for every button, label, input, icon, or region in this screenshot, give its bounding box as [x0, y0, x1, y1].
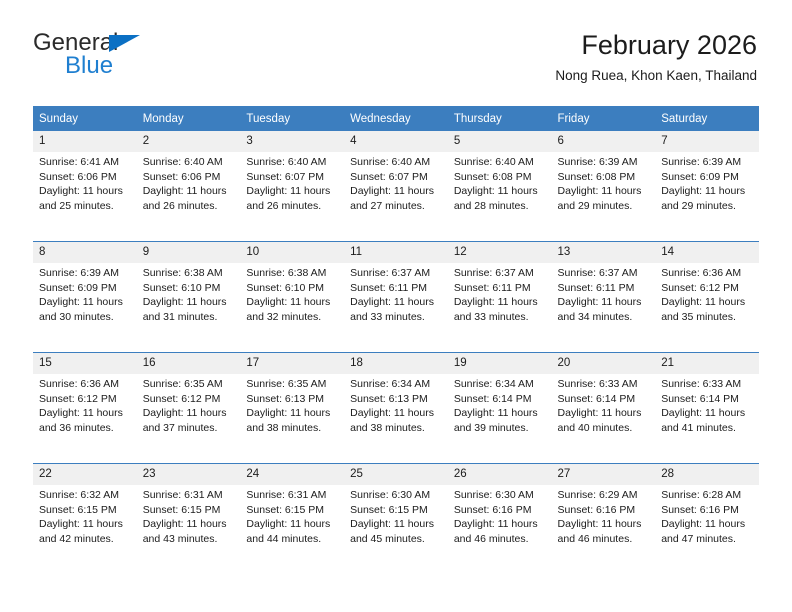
calendar-day-cell[interactable]: 2Sunrise: 6:40 AMSunset: 6:06 PMDaylight…	[137, 131, 241, 242]
daylight-text-line2: and 28 minutes.	[454, 199, 547, 214]
page-header: General Blue February 2026 Nong Ruea, Kh…	[33, 30, 757, 96]
daylight-text-line1: Daylight: 11 hours	[558, 295, 651, 310]
sunrise-text: Sunrise: 6:40 AM	[143, 155, 236, 170]
day-cell-inner: 21Sunrise: 6:33 AMSunset: 6:14 PMDayligh…	[655, 353, 759, 463]
day-cell-inner: 23Sunrise: 6:31 AMSunset: 6:15 PMDayligh…	[137, 464, 241, 574]
calendar-day-cell[interactable]: 5Sunrise: 6:40 AMSunset: 6:08 PMDaylight…	[448, 131, 552, 242]
calendar-week-row: 22Sunrise: 6:32 AMSunset: 6:15 PMDayligh…	[33, 464, 759, 575]
daylight-text-line1: Daylight: 11 hours	[661, 184, 754, 199]
sunset-text: Sunset: 6:06 PM	[143, 170, 236, 185]
day-number: 6	[552, 131, 656, 152]
daylight-text-line1: Daylight: 11 hours	[350, 517, 443, 532]
sunrise-text: Sunrise: 6:39 AM	[39, 266, 132, 281]
calendar-day-cell[interactable]: 23Sunrise: 6:31 AMSunset: 6:15 PMDayligh…	[137, 464, 241, 575]
calendar-day-cell[interactable]: 26Sunrise: 6:30 AMSunset: 6:16 PMDayligh…	[448, 464, 552, 575]
daylight-text-line2: and 45 minutes.	[350, 532, 443, 547]
calendar-day-cell[interactable]: 10Sunrise: 6:38 AMSunset: 6:10 PMDayligh…	[240, 242, 344, 353]
sunset-text: Sunset: 6:11 PM	[350, 281, 443, 296]
day-cell-inner: 22Sunrise: 6:32 AMSunset: 6:15 PMDayligh…	[33, 464, 137, 574]
calendar-day-cell[interactable]: 4Sunrise: 6:40 AMSunset: 6:07 PMDaylight…	[344, 131, 448, 242]
calendar-body: 1Sunrise: 6:41 AMSunset: 6:06 PMDaylight…	[33, 131, 759, 574]
day-cell-inner: 25Sunrise: 6:30 AMSunset: 6:15 PMDayligh…	[344, 464, 448, 574]
sunset-text: Sunset: 6:13 PM	[350, 392, 443, 407]
day-details: Sunrise: 6:36 AMSunset: 6:12 PMDaylight:…	[655, 263, 759, 324]
calendar-day-cell[interactable]: 18Sunrise: 6:34 AMSunset: 6:13 PMDayligh…	[344, 353, 448, 464]
day-cell-inner: 12Sunrise: 6:37 AMSunset: 6:11 PMDayligh…	[448, 242, 552, 352]
daylight-text-line1: Daylight: 11 hours	[661, 517, 754, 532]
sunset-text: Sunset: 6:09 PM	[661, 170, 754, 185]
day-number: 2	[137, 131, 241, 152]
calendar-day-cell[interactable]: 11Sunrise: 6:37 AMSunset: 6:11 PMDayligh…	[344, 242, 448, 353]
daylight-text-line2: and 34 minutes.	[558, 310, 651, 325]
daylight-text-line2: and 32 minutes.	[246, 310, 339, 325]
calendar-day-cell[interactable]: 7Sunrise: 6:39 AMSunset: 6:09 PMDaylight…	[655, 131, 759, 242]
daylight-text-line2: and 42 minutes.	[39, 532, 132, 547]
calendar-header-row: Sunday Monday Tuesday Wednesday Thursday…	[33, 106, 759, 131]
daylight-text-line2: and 31 minutes.	[143, 310, 236, 325]
daylight-text-line1: Daylight: 11 hours	[558, 406, 651, 421]
daylight-text-line1: Daylight: 11 hours	[454, 517, 547, 532]
sunrise-text: Sunrise: 6:33 AM	[661, 377, 754, 392]
sunset-text: Sunset: 6:06 PM	[39, 170, 132, 185]
logo-triangle-icon	[109, 35, 140, 52]
weekday-header-tuesday: Tuesday	[240, 106, 344, 131]
day-number: 5	[448, 131, 552, 152]
calendar-day-cell[interactable]: 24Sunrise: 6:31 AMSunset: 6:15 PMDayligh…	[240, 464, 344, 575]
sunset-text: Sunset: 6:09 PM	[39, 281, 132, 296]
day-details: Sunrise: 6:33 AMSunset: 6:14 PMDaylight:…	[655, 374, 759, 435]
daylight-text-line1: Daylight: 11 hours	[350, 184, 443, 199]
daylight-text-line1: Daylight: 11 hours	[246, 406, 339, 421]
calendar-grid: Sunday Monday Tuesday Wednesday Thursday…	[33, 106, 759, 574]
day-details: Sunrise: 6:36 AMSunset: 6:12 PMDaylight:…	[33, 374, 137, 435]
daylight-text-line1: Daylight: 11 hours	[558, 517, 651, 532]
sunrise-text: Sunrise: 6:40 AM	[454, 155, 547, 170]
day-cell-inner: 15Sunrise: 6:36 AMSunset: 6:12 PMDayligh…	[33, 353, 137, 463]
sunrise-text: Sunrise: 6:33 AM	[558, 377, 651, 392]
daylight-text-line1: Daylight: 11 hours	[246, 295, 339, 310]
calendar-day-cell[interactable]: 12Sunrise: 6:37 AMSunset: 6:11 PMDayligh…	[448, 242, 552, 353]
daylight-text-line2: and 33 minutes.	[350, 310, 443, 325]
daylight-text-line1: Daylight: 11 hours	[39, 517, 132, 532]
day-number: 3	[240, 131, 344, 152]
daylight-text-line2: and 40 minutes.	[558, 421, 651, 436]
day-number: 9	[137, 242, 241, 263]
day-cell-inner: 10Sunrise: 6:38 AMSunset: 6:10 PMDayligh…	[240, 242, 344, 352]
sunrise-text: Sunrise: 6:37 AM	[350, 266, 443, 281]
calendar-day-cell[interactable]: 22Sunrise: 6:32 AMSunset: 6:15 PMDayligh…	[33, 464, 137, 575]
weekday-header-sunday: Sunday	[33, 106, 137, 131]
day-details: Sunrise: 6:40 AMSunset: 6:07 PMDaylight:…	[240, 152, 344, 213]
sunset-text: Sunset: 6:14 PM	[661, 392, 754, 407]
day-cell-inner: 24Sunrise: 6:31 AMSunset: 6:15 PMDayligh…	[240, 464, 344, 574]
sunrise-text: Sunrise: 6:31 AM	[143, 488, 236, 503]
logo-text-blue: Blue	[65, 53, 253, 79]
day-number: 17	[240, 353, 344, 374]
day-number: 1	[33, 131, 137, 152]
day-details: Sunrise: 6:29 AMSunset: 6:16 PMDaylight:…	[552, 485, 656, 546]
day-number: 16	[137, 353, 241, 374]
sunset-text: Sunset: 6:15 PM	[39, 503, 132, 518]
sunrise-text: Sunrise: 6:39 AM	[558, 155, 651, 170]
day-details: Sunrise: 6:31 AMSunset: 6:15 PMDaylight:…	[240, 485, 344, 546]
daylight-text-line1: Daylight: 11 hours	[143, 406, 236, 421]
sunrise-text: Sunrise: 6:40 AM	[350, 155, 443, 170]
calendar-day-cell[interactable]: 15Sunrise: 6:36 AMSunset: 6:12 PMDayligh…	[33, 353, 137, 464]
sunset-text: Sunset: 6:10 PM	[143, 281, 236, 296]
generalblue-logo[interactable]: General Blue	[33, 30, 253, 79]
day-number: 24	[240, 464, 344, 485]
calendar-week-row: 15Sunrise: 6:36 AMSunset: 6:12 PMDayligh…	[33, 353, 759, 464]
daylight-text-line2: and 46 minutes.	[558, 532, 651, 547]
daylight-text-line2: and 38 minutes.	[246, 421, 339, 436]
calendar-page: General Blue February 2026 Nong Ruea, Kh…	[0, 0, 792, 612]
day-cell-inner: 26Sunrise: 6:30 AMSunset: 6:16 PMDayligh…	[448, 464, 552, 574]
day-cell-inner: 3Sunrise: 6:40 AMSunset: 6:07 PMDaylight…	[240, 131, 344, 241]
day-cell-inner: 14Sunrise: 6:36 AMSunset: 6:12 PMDayligh…	[655, 242, 759, 352]
sunset-text: Sunset: 6:14 PM	[454, 392, 547, 407]
sunset-text: Sunset: 6:15 PM	[350, 503, 443, 518]
sunset-text: Sunset: 6:15 PM	[246, 503, 339, 518]
daylight-text-line2: and 33 minutes.	[454, 310, 547, 325]
daylight-text-line1: Daylight: 11 hours	[661, 295, 754, 310]
calendar-day-cell[interactable]: 14Sunrise: 6:36 AMSunset: 6:12 PMDayligh…	[655, 242, 759, 353]
sunrise-text: Sunrise: 6:31 AM	[246, 488, 339, 503]
day-number: 14	[655, 242, 759, 263]
day-cell-inner: 7Sunrise: 6:39 AMSunset: 6:09 PMDaylight…	[655, 131, 759, 241]
day-number: 26	[448, 464, 552, 485]
calendar-day-cell[interactable]: 1Sunrise: 6:41 AMSunset: 6:06 PMDaylight…	[33, 131, 137, 242]
sunset-text: Sunset: 6:11 PM	[558, 281, 651, 296]
daylight-text-line2: and 27 minutes.	[350, 199, 443, 214]
day-cell-inner: 18Sunrise: 6:34 AMSunset: 6:13 PMDayligh…	[344, 353, 448, 463]
day-details: Sunrise: 6:37 AMSunset: 6:11 PMDaylight:…	[448, 263, 552, 324]
sunset-text: Sunset: 6:07 PM	[350, 170, 443, 185]
day-cell-inner: 17Sunrise: 6:35 AMSunset: 6:13 PMDayligh…	[240, 353, 344, 463]
sunset-text: Sunset: 6:10 PM	[246, 281, 339, 296]
sunset-text: Sunset: 6:07 PM	[246, 170, 339, 185]
sunset-text: Sunset: 6:08 PM	[558, 170, 651, 185]
sunrise-text: Sunrise: 6:28 AM	[661, 488, 754, 503]
day-number: 27	[552, 464, 656, 485]
day-details: Sunrise: 6:35 AMSunset: 6:13 PMDaylight:…	[240, 374, 344, 435]
daylight-text-line2: and 39 minutes.	[454, 421, 547, 436]
day-details: Sunrise: 6:40 AMSunset: 6:06 PMDaylight:…	[137, 152, 241, 213]
daylight-text-line1: Daylight: 11 hours	[246, 517, 339, 532]
day-cell-inner: 9Sunrise: 6:38 AMSunset: 6:10 PMDaylight…	[137, 242, 241, 352]
calendar-day-cell[interactable]: 13Sunrise: 6:37 AMSunset: 6:11 PMDayligh…	[552, 242, 656, 353]
daylight-text-line1: Daylight: 11 hours	[39, 184, 132, 199]
day-cell-inner: 19Sunrise: 6:34 AMSunset: 6:14 PMDayligh…	[448, 353, 552, 463]
daylight-text-line2: and 35 minutes.	[661, 310, 754, 325]
sunrise-text: Sunrise: 6:32 AM	[39, 488, 132, 503]
day-number: 11	[344, 242, 448, 263]
sunset-text: Sunset: 6:16 PM	[661, 503, 754, 518]
day-details: Sunrise: 6:28 AMSunset: 6:16 PMDaylight:…	[655, 485, 759, 546]
page-subtitle: Nong Ruea, Khon Kaen, Thailand	[555, 66, 757, 86]
day-number: 10	[240, 242, 344, 263]
daylight-text-line1: Daylight: 11 hours	[454, 184, 547, 199]
weekday-header-friday: Friday	[552, 106, 656, 131]
logo-top-row: General	[33, 30, 253, 56]
day-details: Sunrise: 6:40 AMSunset: 6:07 PMDaylight:…	[344, 152, 448, 213]
sunset-text: Sunset: 6:12 PM	[143, 392, 236, 407]
calendar-day-cell[interactable]: 16Sunrise: 6:35 AMSunset: 6:12 PMDayligh…	[137, 353, 241, 464]
day-cell-inner: 28Sunrise: 6:28 AMSunset: 6:16 PMDayligh…	[655, 464, 759, 574]
daylight-text-line1: Daylight: 11 hours	[143, 517, 236, 532]
logo-text-general: General	[33, 29, 118, 56]
sunrise-text: Sunrise: 6:38 AM	[143, 266, 236, 281]
day-cell-inner: 20Sunrise: 6:33 AMSunset: 6:14 PMDayligh…	[552, 353, 656, 463]
calendar-day-cell[interactable]: 17Sunrise: 6:35 AMSunset: 6:13 PMDayligh…	[240, 353, 344, 464]
sunset-text: Sunset: 6:13 PM	[246, 392, 339, 407]
daylight-text-line2: and 29 minutes.	[661, 199, 754, 214]
sunrise-text: Sunrise: 6:36 AM	[39, 377, 132, 392]
calendar-day-cell[interactable]: 3Sunrise: 6:40 AMSunset: 6:07 PMDaylight…	[240, 131, 344, 242]
sunset-text: Sunset: 6:15 PM	[143, 503, 236, 518]
day-number: 12	[448, 242, 552, 263]
calendar-day-cell[interactable]: 20Sunrise: 6:33 AMSunset: 6:14 PMDayligh…	[552, 353, 656, 464]
daylight-text-line1: Daylight: 11 hours	[246, 184, 339, 199]
sunrise-text: Sunrise: 6:39 AM	[661, 155, 754, 170]
sunrise-text: Sunrise: 6:34 AM	[454, 377, 547, 392]
daylight-text-line1: Daylight: 11 hours	[454, 295, 547, 310]
daylight-text-line2: and 30 minutes.	[39, 310, 132, 325]
daylight-text-line1: Daylight: 11 hours	[143, 184, 236, 199]
day-cell-inner: 8Sunrise: 6:39 AMSunset: 6:09 PMDaylight…	[33, 242, 137, 352]
day-number: 25	[344, 464, 448, 485]
day-cell-inner: 5Sunrise: 6:40 AMSunset: 6:08 PMDaylight…	[448, 131, 552, 241]
sunrise-text: Sunrise: 6:35 AM	[246, 377, 339, 392]
day-details: Sunrise: 6:37 AMSunset: 6:11 PMDaylight:…	[552, 263, 656, 324]
daylight-text-line2: and 38 minutes.	[350, 421, 443, 436]
calendar-week-row: 8Sunrise: 6:39 AMSunset: 6:09 PMDaylight…	[33, 242, 759, 353]
daylight-text-line1: Daylight: 11 hours	[558, 184, 651, 199]
weekday-header-saturday: Saturday	[655, 106, 759, 131]
day-details: Sunrise: 6:39 AMSunset: 6:09 PMDaylight:…	[33, 263, 137, 324]
sunrise-text: Sunrise: 6:40 AM	[246, 155, 339, 170]
sunrise-text: Sunrise: 6:37 AM	[558, 266, 651, 281]
day-number: 22	[33, 464, 137, 485]
day-cell-inner: 11Sunrise: 6:37 AMSunset: 6:11 PMDayligh…	[344, 242, 448, 352]
calendar-day-cell[interactable]: 25Sunrise: 6:30 AMSunset: 6:15 PMDayligh…	[344, 464, 448, 575]
sunrise-text: Sunrise: 6:38 AM	[246, 266, 339, 281]
sunrise-text: Sunrise: 6:34 AM	[350, 377, 443, 392]
day-details: Sunrise: 6:33 AMSunset: 6:14 PMDaylight:…	[552, 374, 656, 435]
day-details: Sunrise: 6:39 AMSunset: 6:09 PMDaylight:…	[655, 152, 759, 213]
daylight-text-line2: and 26 minutes.	[246, 199, 339, 214]
sunset-text: Sunset: 6:16 PM	[558, 503, 651, 518]
daylight-text-line2: and 26 minutes.	[143, 199, 236, 214]
day-number: 20	[552, 353, 656, 374]
day-cell-inner: 6Sunrise: 6:39 AMSunset: 6:08 PMDaylight…	[552, 131, 656, 241]
daylight-text-line2: and 29 minutes.	[558, 199, 651, 214]
calendar-day-cell[interactable]: 19Sunrise: 6:34 AMSunset: 6:14 PMDayligh…	[448, 353, 552, 464]
day-cell-inner: 13Sunrise: 6:37 AMSunset: 6:11 PMDayligh…	[552, 242, 656, 352]
weekday-header-thursday: Thursday	[448, 106, 552, 131]
calendar-day-cell[interactable]: 28Sunrise: 6:28 AMSunset: 6:16 PMDayligh…	[655, 464, 759, 575]
day-number: 13	[552, 242, 656, 263]
daylight-text-line1: Daylight: 11 hours	[143, 295, 236, 310]
sunset-text: Sunset: 6:08 PM	[454, 170, 547, 185]
daylight-text-line2: and 36 minutes.	[39, 421, 132, 436]
calendar-day-cell[interactable]: 6Sunrise: 6:39 AMSunset: 6:08 PMDaylight…	[552, 131, 656, 242]
sunrise-text: Sunrise: 6:36 AM	[661, 266, 754, 281]
day-number: 28	[655, 464, 759, 485]
day-details: Sunrise: 6:38 AMSunset: 6:10 PMDaylight:…	[137, 263, 241, 324]
sunset-text: Sunset: 6:12 PM	[39, 392, 132, 407]
day-cell-inner: 27Sunrise: 6:29 AMSunset: 6:16 PMDayligh…	[552, 464, 656, 574]
sunrise-text: Sunrise: 6:37 AM	[454, 266, 547, 281]
sunrise-text: Sunrise: 6:41 AM	[39, 155, 132, 170]
day-cell-inner: 4Sunrise: 6:40 AMSunset: 6:07 PMDaylight…	[344, 131, 448, 241]
day-number: 4	[344, 131, 448, 152]
daylight-text-line2: and 46 minutes.	[454, 532, 547, 547]
daylight-text-line1: Daylight: 11 hours	[350, 295, 443, 310]
title-block: February 2026 Nong Ruea, Khon Kaen, Thai…	[555, 28, 757, 86]
sunrise-text: Sunrise: 6:29 AM	[558, 488, 651, 503]
day-details: Sunrise: 6:30 AMSunset: 6:15 PMDaylight:…	[344, 485, 448, 546]
daylight-text-line2: and 25 minutes.	[39, 199, 132, 214]
day-details: Sunrise: 6:31 AMSunset: 6:15 PMDaylight:…	[137, 485, 241, 546]
day-number: 23	[137, 464, 241, 485]
day-details: Sunrise: 6:39 AMSunset: 6:08 PMDaylight:…	[552, 152, 656, 213]
day-number: 7	[655, 131, 759, 152]
day-details: Sunrise: 6:35 AMSunset: 6:12 PMDaylight:…	[137, 374, 241, 435]
day-number: 8	[33, 242, 137, 263]
daylight-text-line2: and 44 minutes.	[246, 532, 339, 547]
day-cell-inner: 2Sunrise: 6:40 AMSunset: 6:06 PMDaylight…	[137, 131, 241, 241]
day-details: Sunrise: 6:40 AMSunset: 6:08 PMDaylight:…	[448, 152, 552, 213]
day-number: 18	[344, 353, 448, 374]
daylight-text-line1: Daylight: 11 hours	[454, 406, 547, 421]
daylight-text-line2: and 41 minutes.	[661, 421, 754, 436]
weekday-header-wednesday: Wednesday	[344, 106, 448, 131]
sunrise-text: Sunrise: 6:30 AM	[454, 488, 547, 503]
sunrise-text: Sunrise: 6:35 AM	[143, 377, 236, 392]
page-title: February 2026	[555, 28, 757, 62]
calendar-day-cell[interactable]: 21Sunrise: 6:33 AMSunset: 6:14 PMDayligh…	[655, 353, 759, 464]
day-number: 21	[655, 353, 759, 374]
calendar-week-row: 1Sunrise: 6:41 AMSunset: 6:06 PMDaylight…	[33, 131, 759, 242]
day-cell-inner: 16Sunrise: 6:35 AMSunset: 6:12 PMDayligh…	[137, 353, 241, 463]
sunset-text: Sunset: 6:12 PM	[661, 281, 754, 296]
day-details: Sunrise: 6:41 AMSunset: 6:06 PMDaylight:…	[33, 152, 137, 213]
daylight-text-line1: Daylight: 11 hours	[39, 295, 132, 310]
day-number: 19	[448, 353, 552, 374]
day-cell-inner: 1Sunrise: 6:41 AMSunset: 6:06 PMDaylight…	[33, 131, 137, 241]
calendar-day-cell[interactable]: 27Sunrise: 6:29 AMSunset: 6:16 PMDayligh…	[552, 464, 656, 575]
daylight-text-line2: and 47 minutes.	[661, 532, 754, 547]
day-details: Sunrise: 6:37 AMSunset: 6:11 PMDaylight:…	[344, 263, 448, 324]
sunset-text: Sunset: 6:14 PM	[558, 392, 651, 407]
daylight-text-line2: and 43 minutes.	[143, 532, 236, 547]
day-details: Sunrise: 6:38 AMSunset: 6:10 PMDaylight:…	[240, 263, 344, 324]
calendar-day-cell[interactable]: 9Sunrise: 6:38 AMSunset: 6:10 PMDaylight…	[137, 242, 241, 353]
day-details: Sunrise: 6:34 AMSunset: 6:13 PMDaylight:…	[344, 374, 448, 435]
sunrise-text: Sunrise: 6:30 AM	[350, 488, 443, 503]
daylight-text-line2: and 37 minutes.	[143, 421, 236, 436]
day-details: Sunrise: 6:34 AMSunset: 6:14 PMDaylight:…	[448, 374, 552, 435]
daylight-text-line1: Daylight: 11 hours	[39, 406, 132, 421]
calendar-day-cell[interactable]: 8Sunrise: 6:39 AMSunset: 6:09 PMDaylight…	[33, 242, 137, 353]
day-number: 15	[33, 353, 137, 374]
sunset-text: Sunset: 6:11 PM	[454, 281, 547, 296]
sunset-text: Sunset: 6:16 PM	[454, 503, 547, 518]
day-details: Sunrise: 6:32 AMSunset: 6:15 PMDaylight:…	[33, 485, 137, 546]
day-details: Sunrise: 6:30 AMSunset: 6:16 PMDaylight:…	[448, 485, 552, 546]
weekday-header-monday: Monday	[137, 106, 241, 131]
daylight-text-line1: Daylight: 11 hours	[661, 406, 754, 421]
daylight-text-line1: Daylight: 11 hours	[350, 406, 443, 421]
